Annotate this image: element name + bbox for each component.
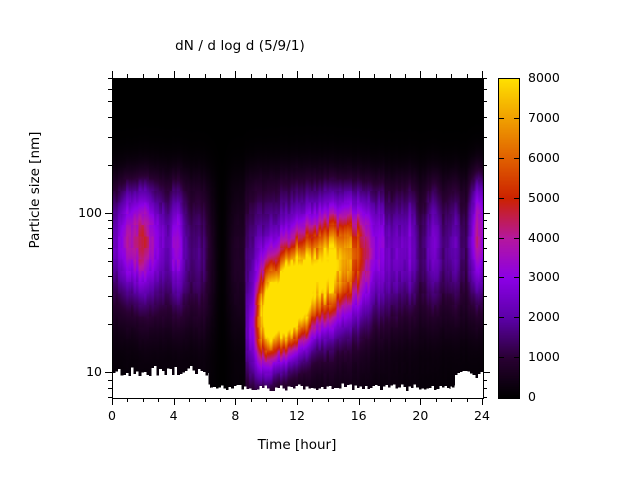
x-tick (390, 398, 391, 402)
x-tick (420, 398, 421, 405)
x-tick (205, 398, 206, 402)
y-axis-title: Particle size [nm] (27, 110, 43, 270)
y-tick (108, 78, 112, 79)
x-tick-top (112, 71, 113, 78)
y-tick (108, 296, 112, 297)
x-tick-top (451, 74, 452, 78)
x-tick (436, 398, 437, 402)
y-tick (108, 324, 112, 325)
x-tick-top (174, 71, 175, 78)
y-tick-right (483, 101, 487, 102)
x-tick (359, 398, 360, 405)
x-tick (127, 398, 128, 402)
y-tick (108, 101, 112, 102)
y-tick-right (483, 261, 487, 262)
colorbar-tick-label: 3000 (528, 269, 560, 284)
x-tick (374, 398, 375, 402)
x-tick-top (328, 74, 329, 78)
y-tick-right (483, 276, 487, 277)
x-tick-label: 20 (400, 408, 440, 423)
colorbar-tick (499, 277, 504, 278)
x-tick-top (189, 74, 190, 78)
x-tick (405, 398, 406, 402)
x-tick-label: 12 (277, 408, 317, 423)
y-tick (108, 388, 112, 389)
colorbar-tick-label: 5000 (528, 190, 560, 205)
x-tick (235, 398, 236, 405)
y-tick-right (483, 89, 487, 90)
x-tick-top (359, 71, 360, 78)
x-tick (112, 398, 113, 405)
colorbar-tick-label: 7000 (528, 110, 560, 125)
colorbar-tick (514, 238, 519, 239)
y-tick-right (483, 220, 487, 221)
y-tick-right (483, 165, 487, 166)
x-tick-top (467, 74, 468, 78)
x-tick (189, 398, 190, 402)
chart-title: dN / d log d (5/9/1) (0, 38, 480, 54)
y-tick (105, 372, 112, 373)
y-tick (108, 397, 112, 398)
colorbar-tick-label: 4000 (528, 230, 560, 245)
colorbar (498, 78, 520, 399)
y-tick (108, 238, 112, 239)
colorbar-tick (514, 158, 519, 159)
colorbar-tick-label: 6000 (528, 150, 560, 165)
y-tick (108, 380, 112, 381)
x-tick-top (405, 74, 406, 78)
colorbar-tick (514, 198, 519, 199)
y-tick-right (483, 213, 490, 214)
x-tick-top (143, 74, 144, 78)
x-tick (312, 398, 313, 402)
y-tick (105, 213, 112, 214)
x-axis-title: Time [hour] (112, 437, 482, 453)
colorbar-tick (514, 317, 519, 318)
x-tick (266, 398, 267, 402)
x-tick-top (158, 74, 159, 78)
x-tick-top (312, 74, 313, 78)
x-tick-top (390, 74, 391, 78)
x-tick-top (127, 74, 128, 78)
y-tick-right (483, 380, 487, 381)
x-tick (482, 398, 483, 405)
heatmap-plot-area (112, 78, 484, 399)
colorbar-tick (499, 357, 504, 358)
y-tick-right (483, 137, 487, 138)
y-tick-right (483, 238, 487, 239)
x-tick (158, 398, 159, 402)
x-tick (174, 398, 175, 405)
y-tick-label: 10 (58, 364, 102, 379)
x-tick-top (251, 74, 252, 78)
x-tick (451, 398, 452, 402)
x-tick-top (235, 71, 236, 78)
x-tick (297, 398, 298, 405)
colorbar-tick (514, 357, 519, 358)
x-tick (143, 398, 144, 402)
y-tick-right (483, 296, 487, 297)
y-tick-label: 100 (58, 205, 102, 220)
x-tick-label: 8 (215, 408, 255, 423)
y-tick (108, 248, 112, 249)
x-tick-label: 24 (462, 408, 502, 423)
y-tick (108, 261, 112, 262)
x-tick-top (436, 74, 437, 78)
colorbar-tick (499, 317, 504, 318)
colorbar-tick-label: 2000 (528, 309, 560, 324)
x-tick-label: 0 (92, 408, 132, 423)
x-tick-top (343, 74, 344, 78)
colorbar-tick (499, 118, 504, 119)
colorbar-tick (499, 158, 504, 159)
y-tick-right (483, 117, 487, 118)
x-tick-label: 16 (339, 408, 379, 423)
colorbar-tick-label: 8000 (528, 70, 560, 85)
colorbar-tick (514, 118, 519, 119)
heatmap-image (113, 79, 483, 398)
y-tick-right (483, 388, 487, 389)
y-tick (108, 220, 112, 221)
colorbar-tick (499, 198, 504, 199)
y-tick (108, 137, 112, 138)
y-tick-right (483, 397, 487, 398)
y-tick (108, 117, 112, 118)
y-tick-right (483, 372, 490, 373)
y-tick (108, 89, 112, 90)
x-tick (467, 398, 468, 402)
chart-figure: dN / d log d (5/9/1) 04812162024 10100 T… (0, 0, 640, 480)
x-tick-top (482, 71, 483, 78)
x-tick-top (420, 71, 421, 78)
x-tick-label: 4 (154, 408, 194, 423)
y-tick-right (483, 78, 487, 79)
x-tick-top (374, 74, 375, 78)
x-tick (343, 398, 344, 402)
y-tick (108, 165, 112, 166)
colorbar-tick (499, 238, 504, 239)
x-tick (251, 398, 252, 402)
y-tick-right (483, 324, 487, 325)
y-tick (108, 228, 112, 229)
x-tick-top (282, 74, 283, 78)
x-tick (220, 398, 221, 402)
colorbar-tick-label: 1000 (528, 349, 560, 364)
x-tick (328, 398, 329, 402)
y-tick-right (483, 228, 487, 229)
x-tick (282, 398, 283, 402)
x-tick-top (266, 74, 267, 78)
y-tick (108, 276, 112, 277)
x-tick-top (220, 74, 221, 78)
x-tick-top (205, 74, 206, 78)
colorbar-tick-label: 0 (528, 389, 536, 404)
y-tick-right (483, 248, 487, 249)
colorbar-tick (514, 277, 519, 278)
x-tick-top (297, 71, 298, 78)
